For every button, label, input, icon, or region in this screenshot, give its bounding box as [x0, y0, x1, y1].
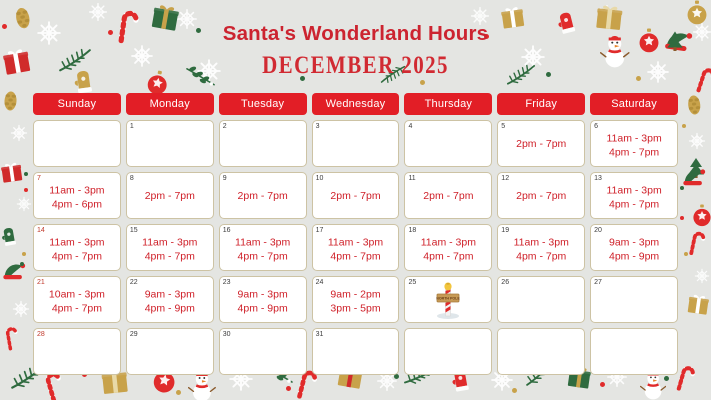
weekday-header-wednesday: Wednesday — [312, 93, 400, 115]
gift-box-icon — [684, 290, 711, 322]
calendar-page: Santa's Wonderland Hours DECEMBER 2025 S… — [0, 0, 711, 400]
calendar-day-cell-21[interactable]: 2110am - 3pm4pm - 7pm — [33, 276, 121, 323]
hours-line: 11am - 3pm — [591, 131, 677, 145]
hours-line: 11am - 3pm — [591, 183, 677, 197]
hours-line: 4pm - 7pm — [591, 145, 677, 159]
calendar-day-cell-5[interactable]: 52pm - 7pm — [497, 120, 585, 167]
hours-line: 2pm - 7pm — [127, 189, 213, 203]
hours-line: 3pm - 5pm — [313, 301, 399, 315]
calendar-day-cell-25[interactable]: 25NORTH POLE — [404, 276, 492, 323]
holly-berry-icon — [682, 124, 686, 128]
hours-line: 11am - 3pm — [34, 235, 120, 249]
calendar-day-cell-18[interactable]: 1811am - 3pm4pm - 7pm — [404, 224, 492, 271]
hours-line: 4pm - 7pm — [405, 249, 491, 263]
hours-line: 4pm - 7pm — [220, 249, 306, 263]
hours-line: 11am - 3pm — [498, 235, 584, 249]
holly-berry-icon — [684, 252, 688, 256]
day-number: 30 — [223, 330, 231, 339]
hours-line: 4pm - 7pm — [498, 249, 584, 263]
day-number: 29 — [130, 330, 138, 339]
weekday-header-saturday: Saturday — [590, 93, 678, 115]
day-number: 1 — [130, 122, 134, 131]
holly-berry-icon — [22, 252, 26, 256]
calendar-week-row: 2110am - 3pm4pm - 7pm229am - 3pm4pm - 9p… — [33, 276, 678, 323]
calendar-day-cell-14[interactable]: 1411am - 3pm4pm - 7pm — [33, 224, 121, 271]
calendar-week-row: 711am - 3pm4pm - 6pm82pm - 7pm92pm - 7pm… — [33, 172, 678, 219]
holly-berry-icon — [24, 188, 28, 192]
day-hours: 2pm - 7pm — [220, 189, 306, 203]
calendar-empty-cell — [590, 328, 678, 375]
ornament-icon — [692, 204, 711, 233]
calendar-grid: SundayMondayTuesdayWednesdayThursdayFrid… — [33, 93, 678, 380]
day-hours: 11am - 3pm4pm - 7pm — [591, 180, 677, 211]
candy-cane-icon — [685, 227, 709, 263]
day-number: 4 — [408, 122, 412, 131]
calendar-week-row: 1411am - 3pm4pm - 7pm1511am - 3pm4pm - 7… — [33, 224, 678, 271]
hours-line: 9am - 3pm — [127, 287, 213, 301]
day-hours: 11am - 3pm4pm - 7pm — [498, 232, 584, 263]
calendar-day-cell-12[interactable]: 122pm - 7pm — [497, 172, 585, 219]
calendar-day-cell-30[interactable]: 30 — [219, 328, 307, 375]
hours-line: 9am - 3pm — [220, 287, 306, 301]
calendar-day-cell-9[interactable]: 92pm - 7pm — [219, 172, 307, 219]
holly-berry-icon — [176, 390, 181, 395]
north-pole-sign-icon: NORTH POLE — [405, 281, 491, 320]
hours-line: 2pm - 7pm — [405, 189, 491, 203]
calendar-day-cell-4[interactable]: 4 — [404, 120, 492, 167]
snowflake-icon — [12, 300, 30, 323]
calendar-day-cell-3[interactable]: 3 — [312, 120, 400, 167]
hours-line: 9am - 2pm — [313, 287, 399, 301]
candy-cane-icon — [1, 323, 22, 356]
day-number: 28 — [37, 330, 45, 339]
calendar-day-cell-6[interactable]: 611am - 3pm4pm - 7pm — [590, 120, 678, 167]
holly-berry-icon — [680, 186, 684, 190]
day-hours: 9am - 3pm4pm - 9pm — [127, 284, 213, 315]
hours-line: 2pm - 7pm — [220, 189, 306, 203]
calendar-day-cell-16[interactable]: 1611am - 3pm4pm - 7pm — [219, 224, 307, 271]
weekday-header-friday: Friday — [497, 93, 585, 115]
calendar-day-cell-24[interactable]: 249am - 2pm3pm - 5pm — [312, 276, 400, 323]
day-number: 27 — [594, 278, 602, 287]
day-number: 9 — [223, 174, 227, 183]
calendar-day-cell-15[interactable]: 1511am - 3pm4pm - 7pm — [126, 224, 214, 271]
hours-line: 11am - 3pm — [34, 183, 120, 197]
day-hours: 10am - 3pm4pm - 7pm — [34, 284, 120, 315]
holly-berry-icon — [512, 388, 517, 393]
calendar-day-cell-19[interactable]: 1911am - 3pm4pm - 7pm — [497, 224, 585, 271]
svg-text:NORTH POLE: NORTH POLE — [437, 296, 461, 300]
day-hours: 11am - 3pm4pm - 7pm — [34, 232, 120, 263]
hours-line: 4pm - 6pm — [34, 197, 120, 211]
santa-hat-icon — [682, 168, 706, 192]
snowflake-icon — [16, 196, 32, 217]
hours-line: 2pm - 7pm — [498, 189, 584, 203]
hours-line: 4pm - 7pm — [313, 249, 399, 263]
day-hours: 9am - 2pm3pm - 5pm — [313, 284, 399, 315]
hours-line: 4pm - 7pm — [34, 249, 120, 263]
day-number: 31 — [316, 330, 324, 339]
calendar-day-cell-13[interactable]: 1311am - 3pm4pm - 7pm — [590, 172, 678, 219]
calendar-empty-cell — [497, 328, 585, 375]
day-number: 2 — [223, 122, 227, 131]
day-hours: 2pm - 7pm — [498, 189, 584, 203]
calendar-day-cell-11[interactable]: 112pm - 7pm — [404, 172, 492, 219]
calendar-day-cell-27[interactable]: 27 — [590, 276, 678, 323]
hours-line: 10am - 3pm — [34, 287, 120, 301]
hours-line: 4pm - 9pm — [127, 301, 213, 315]
calendar-empty-cell — [33, 120, 121, 167]
pinecone-icon — [685, 91, 705, 122]
day-hours: 11am - 3pm4pm - 7pm — [405, 232, 491, 263]
hours-line: 11am - 3pm — [127, 235, 213, 249]
hours-line: 4pm - 7pm — [591, 197, 677, 211]
weekday-header-tuesday: Tuesday — [219, 93, 307, 115]
hours-line: 4pm - 7pm — [34, 301, 120, 315]
weekday-header-sunday: Sunday — [33, 93, 121, 115]
day-hours: 2pm - 7pm — [127, 189, 213, 203]
day-hours: 11am - 3pm4pm - 7pm — [127, 232, 213, 263]
snowflake-icon — [688, 132, 706, 155]
holly-berry-icon — [24, 172, 28, 176]
day-hours: 11am - 3pm4pm - 7pm — [313, 232, 399, 263]
calendar-weeks: 123452pm - 7pm611am - 3pm4pm - 7pm711am … — [33, 120, 678, 375]
calendar-week-row: 123452pm - 7pm611am - 3pm4pm - 7pm — [33, 120, 678, 167]
holly-berry-icon — [20, 262, 24, 266]
calendar-day-cell-10[interactable]: 102pm - 7pm — [312, 172, 400, 219]
calendar-day-cell-1[interactable]: 1 — [126, 120, 214, 167]
hours-line: 4pm - 9pm — [220, 301, 306, 315]
calendar-empty-cell — [404, 328, 492, 375]
christmas-tree-icon — [684, 156, 708, 185]
hours-line: 9am - 3pm — [591, 235, 677, 249]
calendar-day-cell-2[interactable]: 2 — [219, 120, 307, 167]
day-hours: 9am - 3pm4pm - 9pm — [220, 284, 306, 315]
weekday-header-monday: Monday — [126, 93, 214, 115]
day-hours: 11am - 3pm4pm - 6pm — [34, 180, 120, 211]
day-hours: 2pm - 7pm — [498, 137, 584, 151]
hours-line: 2pm - 7pm — [498, 137, 584, 151]
calendar-week-row: 28293031 — [33, 328, 678, 375]
calendar-day-cell-22[interactable]: 229am - 3pm4pm - 9pm — [126, 276, 214, 323]
weekday-header-row: SundayMondayTuesdayWednesdayThursdayFrid… — [33, 93, 678, 115]
pinecone-icon — [1, 87, 20, 117]
holly-berry-icon — [600, 382, 605, 387]
header-block: Santa's Wonderland Hours DECEMBER 2025 — [0, 22, 711, 75]
calendar-day-cell-8[interactable]: 82pm - 7pm — [126, 172, 214, 219]
calendar-day-cell-23[interactable]: 239am - 3pm4pm - 9pm — [219, 276, 307, 323]
calendar-day-cell-31[interactable]: 31 — [312, 328, 400, 375]
calendar-day-cell-20[interactable]: 209am - 3pm4pm - 9pm — [590, 224, 678, 271]
calendar-day-cell-7[interactable]: 711am - 3pm4pm - 6pm — [33, 172, 121, 219]
santa-hat-icon — [2, 262, 26, 286]
hours-line: 4pm - 9pm — [591, 249, 677, 263]
calendar-day-cell-29[interactable]: 29 — [126, 328, 214, 375]
day-number: 26 — [501, 278, 509, 287]
mitten-icon — [0, 223, 22, 255]
page-title: Santa's Wonderland Hours — [0, 22, 711, 46]
weekday-header-thursday: Thursday — [404, 93, 492, 115]
hours-line: 4pm - 7pm — [127, 249, 213, 263]
day-hours: 11am - 3pm4pm - 7pm — [591, 128, 677, 159]
calendar-day-cell-28[interactable]: 28 — [33, 328, 121, 375]
day-number: 8 — [130, 174, 134, 183]
day-hours: 9am - 3pm4pm - 9pm — [591, 232, 677, 263]
snowflake-icon — [10, 124, 28, 147]
holly-berry-icon — [680, 216, 684, 220]
holly-berry-icon — [286, 386, 291, 391]
hours-line: 11am - 3pm — [405, 235, 491, 249]
hours-line: 11am - 3pm — [313, 235, 399, 249]
hours-line: 2pm - 7pm — [313, 189, 399, 203]
hours-line: 11am - 3pm — [220, 235, 306, 249]
day-hours: 2pm - 7pm — [405, 189, 491, 203]
day-number: 3 — [316, 122, 320, 131]
calendar-day-cell-26[interactable]: 26 — [497, 276, 585, 323]
day-number: 10 — [316, 174, 324, 183]
page-subtitle: DECEMBER 2025 — [0, 50, 711, 81]
gift-box-icon — [0, 158, 26, 190]
day-number: 12 — [501, 174, 509, 183]
day-hours: 11am - 3pm4pm - 7pm — [220, 232, 306, 263]
holly-berry-icon — [84, 82, 89, 87]
snowflake-icon — [694, 268, 710, 289]
holly-berry-icon — [420, 80, 425, 85]
calendar-day-cell-17[interactable]: 1711am - 3pm4pm - 7pm — [312, 224, 400, 271]
day-hours: 2pm - 7pm — [313, 189, 399, 203]
day-number: 5 — [501, 122, 505, 131]
day-number: 11 — [408, 174, 415, 183]
